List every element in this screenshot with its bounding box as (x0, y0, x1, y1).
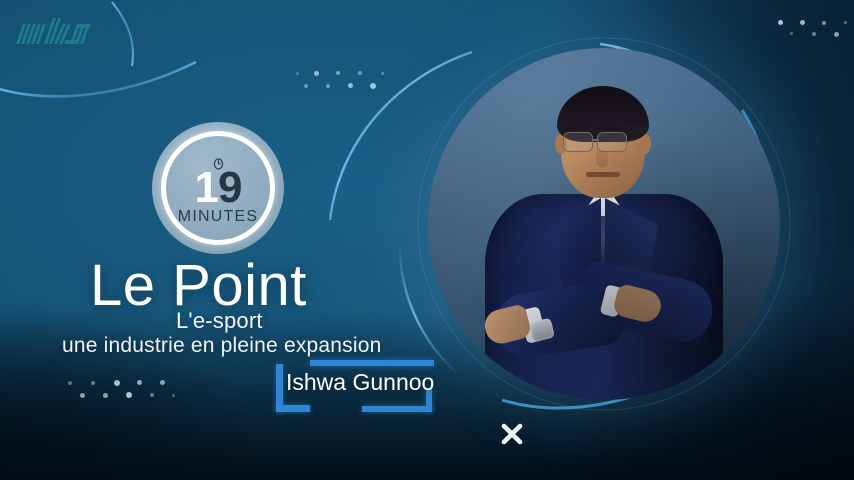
duration-badge: 1 9 MINUTES (152, 122, 284, 254)
x-mark-icon (500, 422, 524, 446)
nameplate-bracket-top-right (394, 360, 434, 366)
presenter-portrait (428, 48, 780, 400)
nameplate-bracket-left-bottom (276, 405, 310, 412)
duration-digit-one: 1 (195, 168, 218, 208)
duration-value: 1 9 (195, 168, 242, 208)
guest-name: Ishwa Gunnoo (286, 369, 434, 396)
nameplate-bracket-bottom-right (362, 406, 432, 412)
nameplate-bracket-top (310, 360, 400, 366)
duration-digit-nine: 9 (218, 168, 241, 208)
broadcast-title-card: 1 9 MINUTES Le Point L'e-sport une indus… (0, 0, 854, 480)
topic-line-1: L'e-sport (176, 308, 263, 334)
mbc-logo (14, 14, 100, 54)
topic-line-2: une industrie en pleine expansion (62, 334, 382, 358)
duration-unit-label: MINUTES (178, 208, 258, 226)
guest-nameplate: Ishwa Gunnoo (266, 360, 450, 414)
